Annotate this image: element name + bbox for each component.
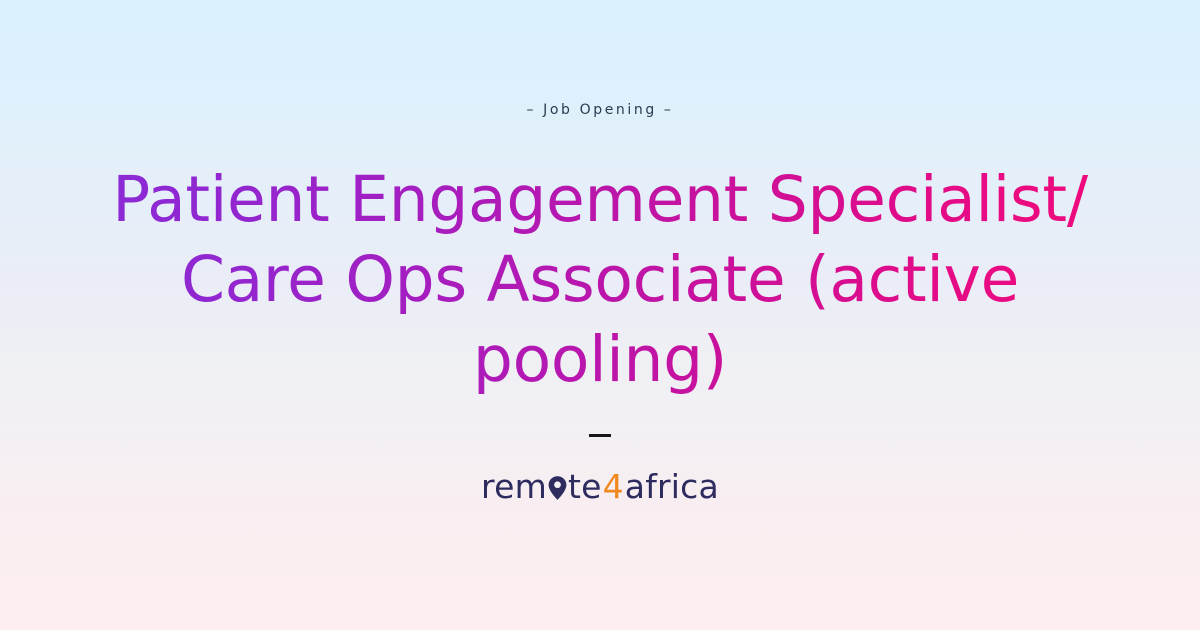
divider-dash	[589, 434, 611, 437]
page-title: Patient Engagement Specialist/Care Ops A…	[95, 160, 1105, 400]
logo-numeral-four: 4	[602, 470, 625, 503]
page-title-line-1: Patient Engagement Specialist/	[112, 163, 1088, 236]
job-opening-share-card: – Job Opening – Patient Engagement Speci…	[0, 0, 1200, 630]
brand-logo: rem te4africa	[481, 470, 719, 503]
logo-text-suffix: africa	[625, 470, 719, 503]
eyebrow-label: – Job Opening –	[527, 103, 674, 117]
map-pin-icon	[547, 475, 568, 501]
page-title-line-3: pooling)	[473, 323, 727, 396]
card-content: – Job Opening – Patient Engagement Speci…	[95, 0, 1105, 503]
logo-text-prefix: rem	[481, 470, 547, 503]
logo-text-middle: te	[568, 470, 602, 503]
page-title-line-2: Care Ops Associate (active	[181, 243, 1019, 316]
